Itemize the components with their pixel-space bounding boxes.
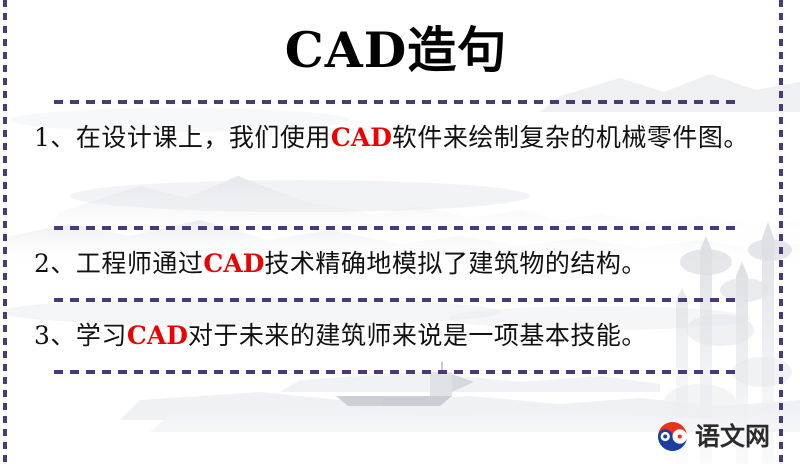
slide-page: CAD造句 1、在设计课上，我们使用CAD软件来绘制复杂的机械零件图。 2、工程… (0, 0, 800, 464)
divider-rule-bottom (54, 370, 742, 374)
sentence-item-3: 3、学习CAD对于未来的建筑师来说是一项基本技能。 (14, 302, 778, 370)
highlight-term-1: CAD (331, 123, 392, 152)
sentence-text-after-2: 技术精确地模拟了建筑物的结构。 (264, 249, 647, 278)
sentence-item-2: 2、工程师通过CAD技术精确地模拟了建筑物的结构。 (14, 230, 778, 298)
page-title: CAD造句 (285, 26, 508, 75)
sentence-index-1: 1、 (34, 123, 76, 152)
brand-name-label: 语文网 (695, 424, 770, 449)
sentence-index-2: 2、 (34, 249, 76, 278)
highlight-term-2: CAD (203, 249, 264, 278)
slide-content: CAD造句 1、在设计课上，我们使用CAD软件来绘制复杂的机械零件图。 2、工程… (0, 0, 800, 464)
right-dashed-border (779, 0, 783, 464)
left-dashed-border (3, 0, 7, 464)
sentence-text-before-3: 学习 (76, 321, 127, 350)
watermark-logo: 语文网 (657, 421, 770, 452)
sentence-text-before-2: 工程师通过 (76, 249, 204, 278)
sentence-text-before-1: 在设计课上，我们使用 (76, 123, 331, 152)
yuwen-emblem-icon (657, 421, 688, 452)
sentence-text-after-3: 对于未来的建筑师来说是一项基本技能。 (188, 321, 647, 350)
sentence-item-1: 1、在设计课上，我们使用CAD软件来绘制复杂的机械零件图。 (14, 104, 778, 226)
highlight-term-3: CAD (127, 321, 188, 350)
title-row: CAD造句 (14, 0, 778, 100)
sentence-text-after-1: 软件来绘制复杂的机械零件图。 (392, 123, 749, 152)
sentence-index-3: 3、 (34, 321, 76, 350)
